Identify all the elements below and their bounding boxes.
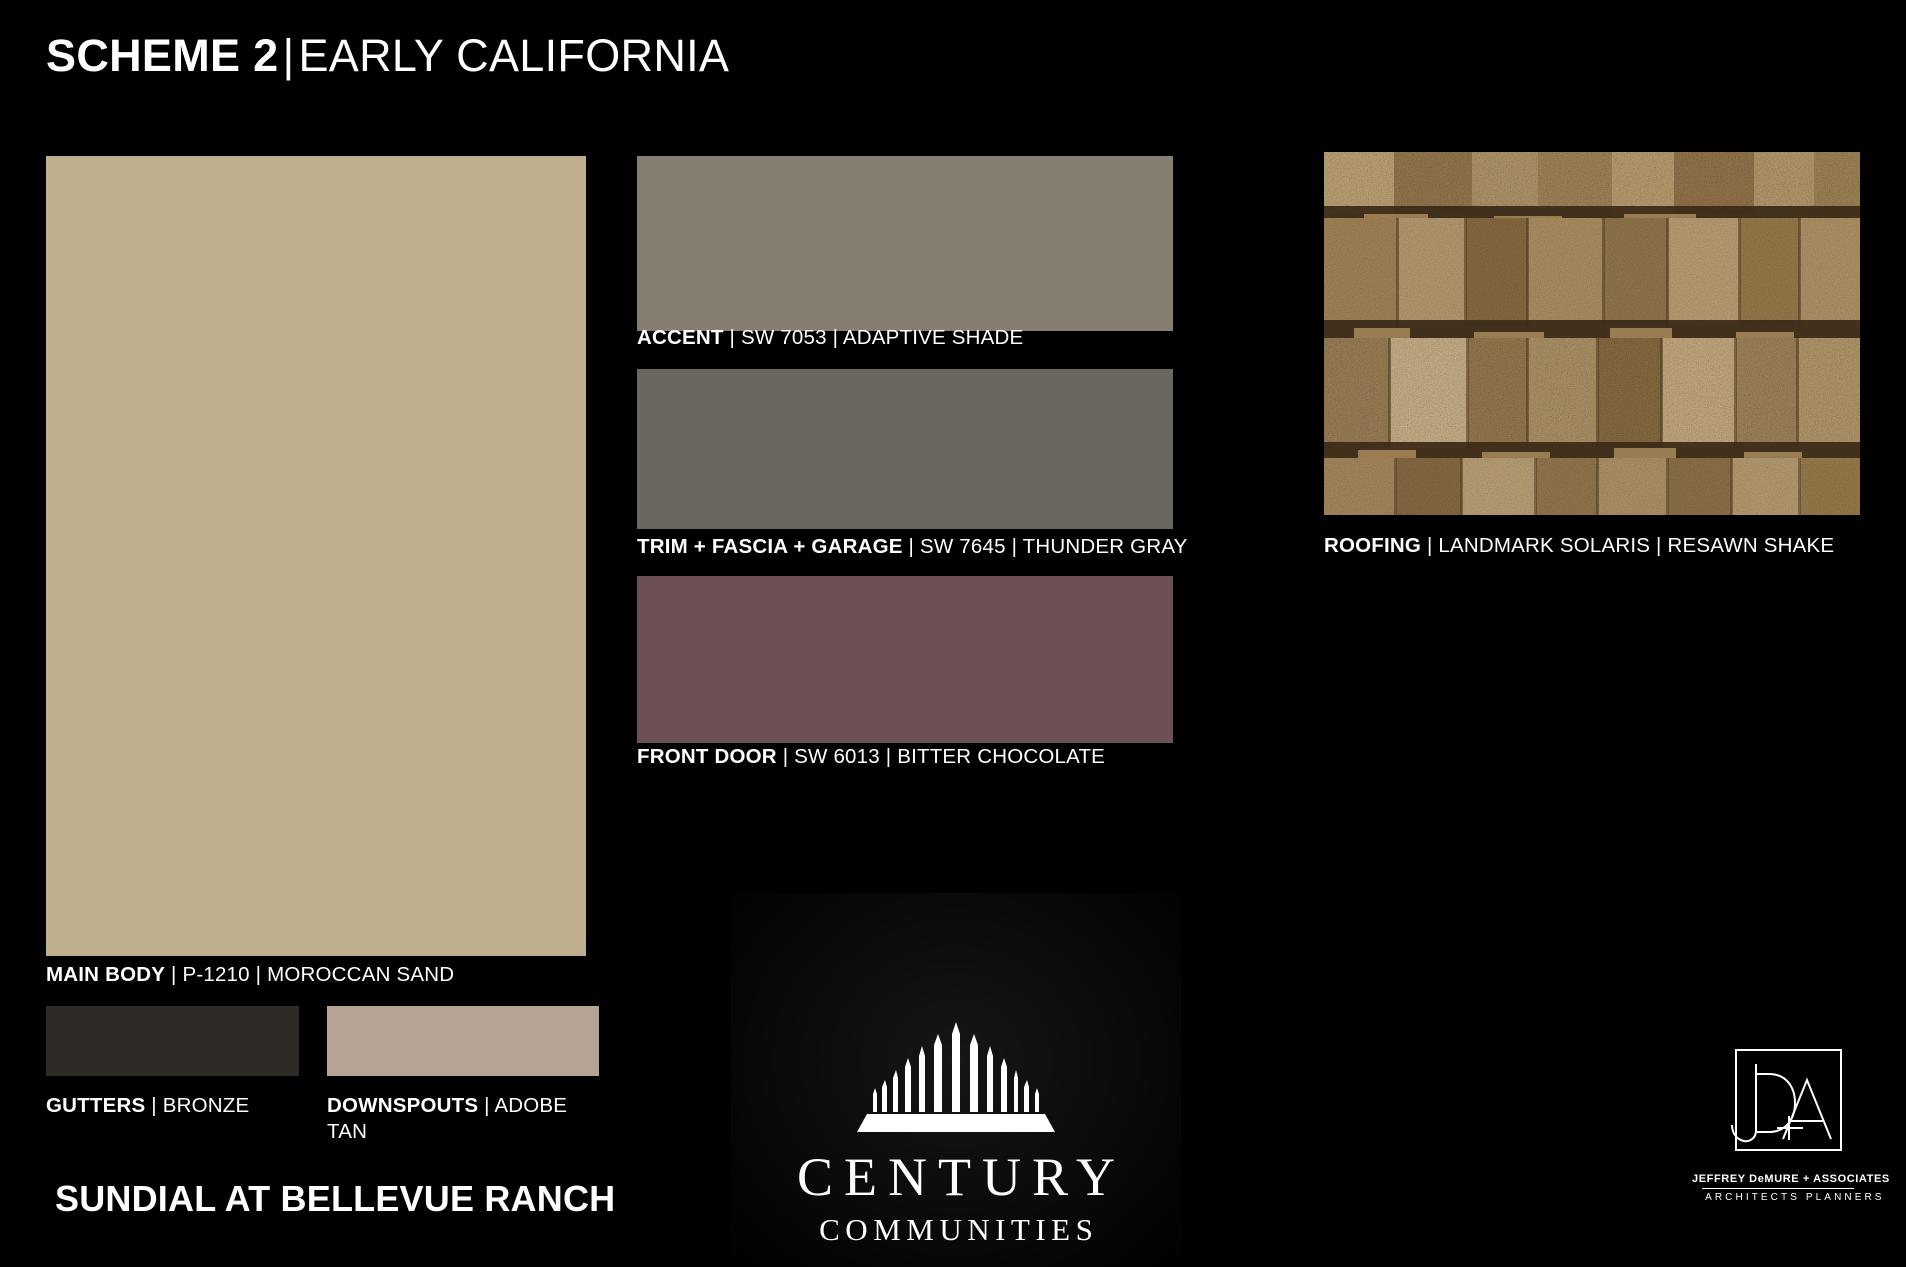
caption-gutters-label: GUTTERS	[46, 1094, 145, 1117]
page-title-separator: |	[278, 30, 298, 81]
caption-gutters-sep1: |	[151, 1094, 157, 1117]
caption-accent-sep1: |	[730, 326, 736, 349]
caption-trim-label: TRIM + FASCIA + GARAGE	[637, 535, 903, 558]
century-subword: COMMUNITIES	[814, 1214, 1099, 1245]
swatch-gutters	[46, 1006, 299, 1076]
caption-accent: ACCENT | SW 7053 | ADAPTIVE SHADE	[637, 325, 1023, 351]
caption-main-body-name: MOROCCAN SAND	[267, 963, 454, 986]
caption-accent-name: ADAPTIVE SHADE	[843, 326, 1024, 349]
caption-trim-code: SW 7645	[920, 535, 1006, 558]
shingle-texture-icon	[1324, 152, 1860, 515]
caption-main-body-code: P-1210	[182, 963, 249, 986]
caption-roofing: ROOFING | LANDMARK SOLARIS | RESAWN SHAK…	[1324, 533, 1834, 559]
century-communities-logo: CENTURY COMMUNITIES	[731, 893, 1181, 1267]
swatch-roofing	[1324, 152, 1860, 515]
jda-logo: JEFFREY DeMURE + ASSOCIATES ARCHITECTS P…	[1692, 1046, 1864, 1212]
caption-trim-name: THUNDER GRAY	[1023, 535, 1188, 558]
jda-firm-name: JEFFREY DeMURE + ASSOCIATES	[1692, 1173, 1864, 1185]
caption-gutters-name: BRONZE	[163, 1094, 250, 1117]
colonnade-building-icon	[831, 1020, 1081, 1138]
caption-accent-code: SW 7053	[741, 326, 827, 349]
caption-front-door-label: FRONT DOOR	[637, 745, 777, 768]
caption-roofing-name: RESAWN SHAKE	[1667, 534, 1834, 557]
caption-front-door-code: SW 6013	[794, 745, 880, 768]
caption-roofing-sep1: |	[1427, 534, 1433, 557]
caption-roofing-code: LANDMARK SOLARIS	[1438, 534, 1650, 557]
swatch-main-body	[46, 156, 586, 956]
caption-front-door-sep1: |	[783, 745, 789, 768]
caption-main-body-label: MAIN BODY	[46, 963, 165, 986]
page-title-scheme: SCHEME 2	[46, 30, 278, 81]
jda-firm-disciplines: ARCHITECTS PLANNERS	[1702, 1188, 1854, 1203]
caption-front-door: FRONT DOOR | SW 6013 | BITTER CHOCOLATE	[637, 744, 1105, 770]
caption-accent-label: ACCENT	[637, 326, 724, 349]
caption-front-door-name: BITTER CHOCOLATE	[897, 745, 1105, 768]
caption-main-body: MAIN BODY | P-1210 | MOROCCAN SAND	[46, 962, 454, 988]
caption-downspouts-sep1: |	[484, 1094, 490, 1117]
project-title: SUNDIAL AT BELLEVUE RANCH	[55, 1178, 615, 1220]
page-title-name: EARLY CALIFORNIA	[298, 30, 729, 81]
caption-roofing-label: ROOFING	[1324, 534, 1421, 557]
caption-downspouts-label: DOWNSPOUTS	[327, 1094, 478, 1117]
swatch-front-door	[637, 576, 1173, 743]
caption-main-body-sep2: |	[256, 963, 262, 986]
page-title: SCHEME 2|EARLY CALIFORNIA	[46, 33, 729, 78]
caption-gutters: GUTTERS | BRONZE	[46, 1093, 249, 1119]
caption-trim-sep1: |	[909, 535, 915, 558]
swatch-accent	[637, 156, 1173, 331]
jda-monogram-icon	[1711, 1046, 1845, 1166]
caption-trim-fascia-garage: TRIM + FASCIA + GARAGE | SW 7645 | THUND…	[637, 534, 1188, 560]
caption-roofing-sep2: |	[1656, 534, 1662, 557]
swatch-trim-fascia-garage	[637, 369, 1173, 529]
caption-trim-sep2: |	[1012, 535, 1018, 558]
caption-accent-sep2: |	[833, 326, 839, 349]
century-wordmark: CENTURY	[786, 1150, 1126, 1204]
caption-front-door-sep2: |	[886, 745, 892, 768]
swatch-downspouts	[327, 1006, 599, 1076]
caption-downspouts: DOWNSPOUTS | ADOBE TAN	[327, 1093, 577, 1145]
caption-main-body-sep1: |	[171, 963, 177, 986]
